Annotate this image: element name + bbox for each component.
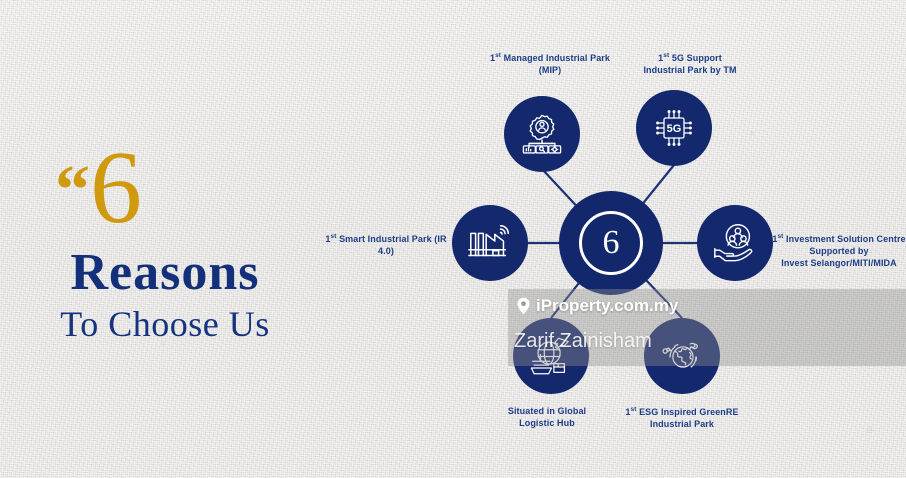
node-5g-support[interactable]: 5G: [636, 90, 712, 166]
svg-text:5G: 5G: [667, 123, 682, 135]
node-investment-solution-centre[interactable]: [697, 205, 773, 281]
5g-chip-icon: 5G: [650, 104, 698, 152]
headline-line-1: Reasons: [0, 246, 330, 301]
label-line-2: Industrial Park by TM: [643, 65, 736, 75]
node-managed-industrial-park[interactable]: [504, 96, 580, 172]
label-esg-greenre: 1st ESG Inspired GreenRE Industrial Park: [614, 406, 750, 431]
label-line-2: Supported by: [809, 246, 868, 256]
watermark-brand-text: iProperty.com.my: [536, 296, 678, 316]
label-line-3: Invest Selangor/MITI/MIDA: [781, 258, 897, 268]
label-managed-industrial-park: 1st Managed Industrial Park (MIP): [480, 52, 620, 77]
label-line-2: 4.0): [378, 246, 394, 256]
watermark-agent-name: Zarif Zainisham: [514, 330, 652, 353]
label-investment-solution-centre: 1st Investment Solution Centre Supported…: [772, 233, 906, 270]
headline-line-2: To Choose Us: [0, 303, 330, 345]
label-smart-industrial-park: 1st Smart Industrial Park (IR 4.0): [318, 233, 454, 258]
opening-quote-icon: “: [55, 156, 87, 226]
center-hub-node[interactable]: 6: [559, 191, 663, 295]
node-smart-industrial-park[interactable]: [452, 205, 528, 281]
label-global-logistic-hub: Situated in Global Logistic Hub: [482, 406, 612, 430]
label-line-1: 5G Support: [669, 53, 722, 63]
gear-person-management-icon: [519, 111, 565, 157]
headline-block: “ 6 Reasons To Choose Us: [0, 150, 330, 345]
label-line-1: Investment Solution Centre: [783, 234, 905, 244]
hub-number: 6: [579, 211, 643, 275]
hand-people-investment-icon: [711, 220, 759, 266]
label-line-2: (MIP): [539, 65, 562, 75]
label-line-1: Smart Industrial Park (IR: [336, 234, 446, 244]
headline-number-row: “ 6: [0, 150, 330, 242]
location-pin-icon: [516, 297, 531, 315]
screenshot-root: “ 6 Reasons To Choose Us: [0, 0, 906, 478]
label-line-1: Managed Industrial Park: [501, 53, 610, 63]
smart-factory-wifi-icon: [466, 220, 514, 266]
headline-number: 6: [90, 136, 142, 240]
watermark-logo: iProperty.com.my: [516, 296, 678, 316]
label-line-2: Industrial Park: [650, 419, 714, 429]
label-line-1: ESG Inspired GreenRE: [636, 407, 738, 417]
label-5g-support: 1st 5G Support Industrial Park by TM: [622, 52, 758, 77]
label-line-2: Logistic Hub: [519, 418, 575, 428]
label-line-1: Situated in Global: [508, 406, 586, 416]
